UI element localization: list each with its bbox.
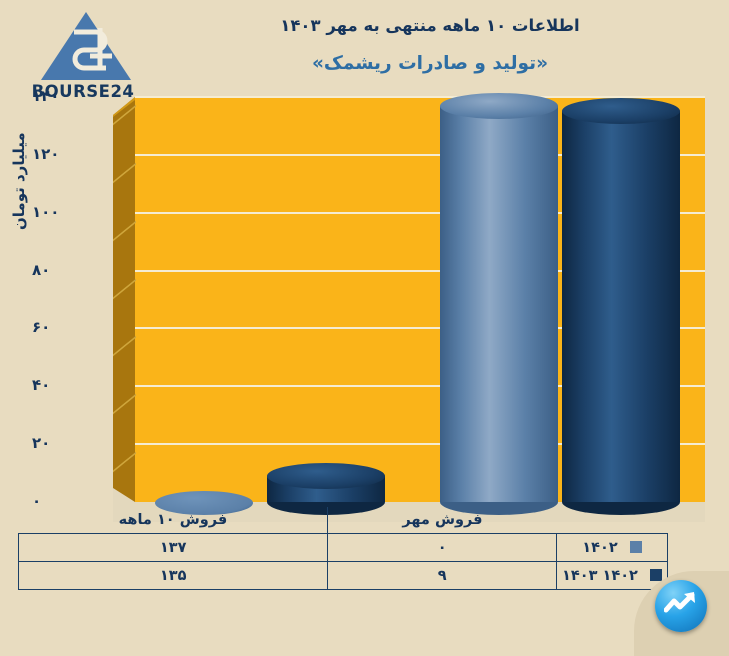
legend-swatch-1402: [630, 541, 642, 553]
table-cell-1402-10month: ۱۳۷: [19, 534, 328, 562]
bar-body: [562, 111, 680, 502]
table-header-row: فروش مهر فروش ۱۰ ماهه: [19, 507, 668, 534]
trending-up-icon[interactable]: [655, 580, 707, 632]
y-axis-title: میلیارد تومان: [10, 132, 28, 230]
y-axis-tick-label: ۸۰: [32, 261, 92, 279]
legend-label-1402: ۱۴۰۲: [582, 540, 617, 556]
table-cell-1402-mehr: ۰: [328, 534, 557, 562]
legend-item-1402[interactable]: ۱۴۰۲: [557, 534, 668, 562]
chart-page: BOURSE24 اطلاعات ۱۰ ماهه منتهی به مهر ۱۴…: [0, 0, 729, 656]
legend-item-1403[interactable]: ۱۴۰۲ ۱۴۰۳: [557, 562, 668, 590]
chart-subtitle: «تولید و صادرات ریشمک»: [150, 53, 710, 74]
y-axis-tick-label: ۲۰: [32, 434, 92, 452]
data-table: فروش مهر فروش ۱۰ ماهه ۱۴۰۲ ۰ ۱۳۷ ۱۴۰۲ ۱۴…: [18, 507, 668, 590]
bar-cap: [267, 463, 385, 489]
legend-swatch-1403: [650, 569, 662, 581]
bar-0-1[interactable]: [267, 463, 385, 502]
y-axis-tick-label: ۶۰: [32, 318, 92, 336]
table-cell-1403-10month: ۱۳۵: [19, 562, 328, 590]
table-corner-cell: [557, 507, 668, 534]
plot-side-wall: [113, 97, 135, 502]
table-cell-1403-mehr: ۹: [328, 562, 557, 590]
y-axis-tick-label: ۱۰۰: [32, 203, 92, 221]
table-col-header-1: فروش ۱۰ ماهه: [19, 507, 328, 534]
table-row[interactable]: ۱۴۰۲ ۰ ۱۳۷: [19, 534, 668, 562]
y-axis-tick-label: ۴۰: [32, 376, 92, 394]
table-row[interactable]: ۱۴۰۲ ۱۴۰۳ ۹ ۱۳۵: [19, 562, 668, 590]
bar-1-1[interactable]: [562, 98, 680, 502]
trending-up-glyph: [664, 590, 698, 622]
y-axis-tick-label: ۱۲۰: [32, 145, 92, 163]
bar-1-0[interactable]: [440, 93, 558, 502]
y-axis-tick-label: ۱۴۰: [32, 87, 92, 105]
table-col-header-0: فروش مهر: [328, 507, 557, 534]
legend-label-1403: ۱۴۰۲ ۱۴۰۳: [562, 568, 638, 584]
logo-triangle-icon: [40, 10, 132, 82]
chart-title: اطلاعات ۱۰ ماهه منتهی به مهر ۱۴۰۳: [150, 16, 710, 35]
bar-cap: [440, 93, 558, 119]
bar-body: [440, 106, 558, 502]
